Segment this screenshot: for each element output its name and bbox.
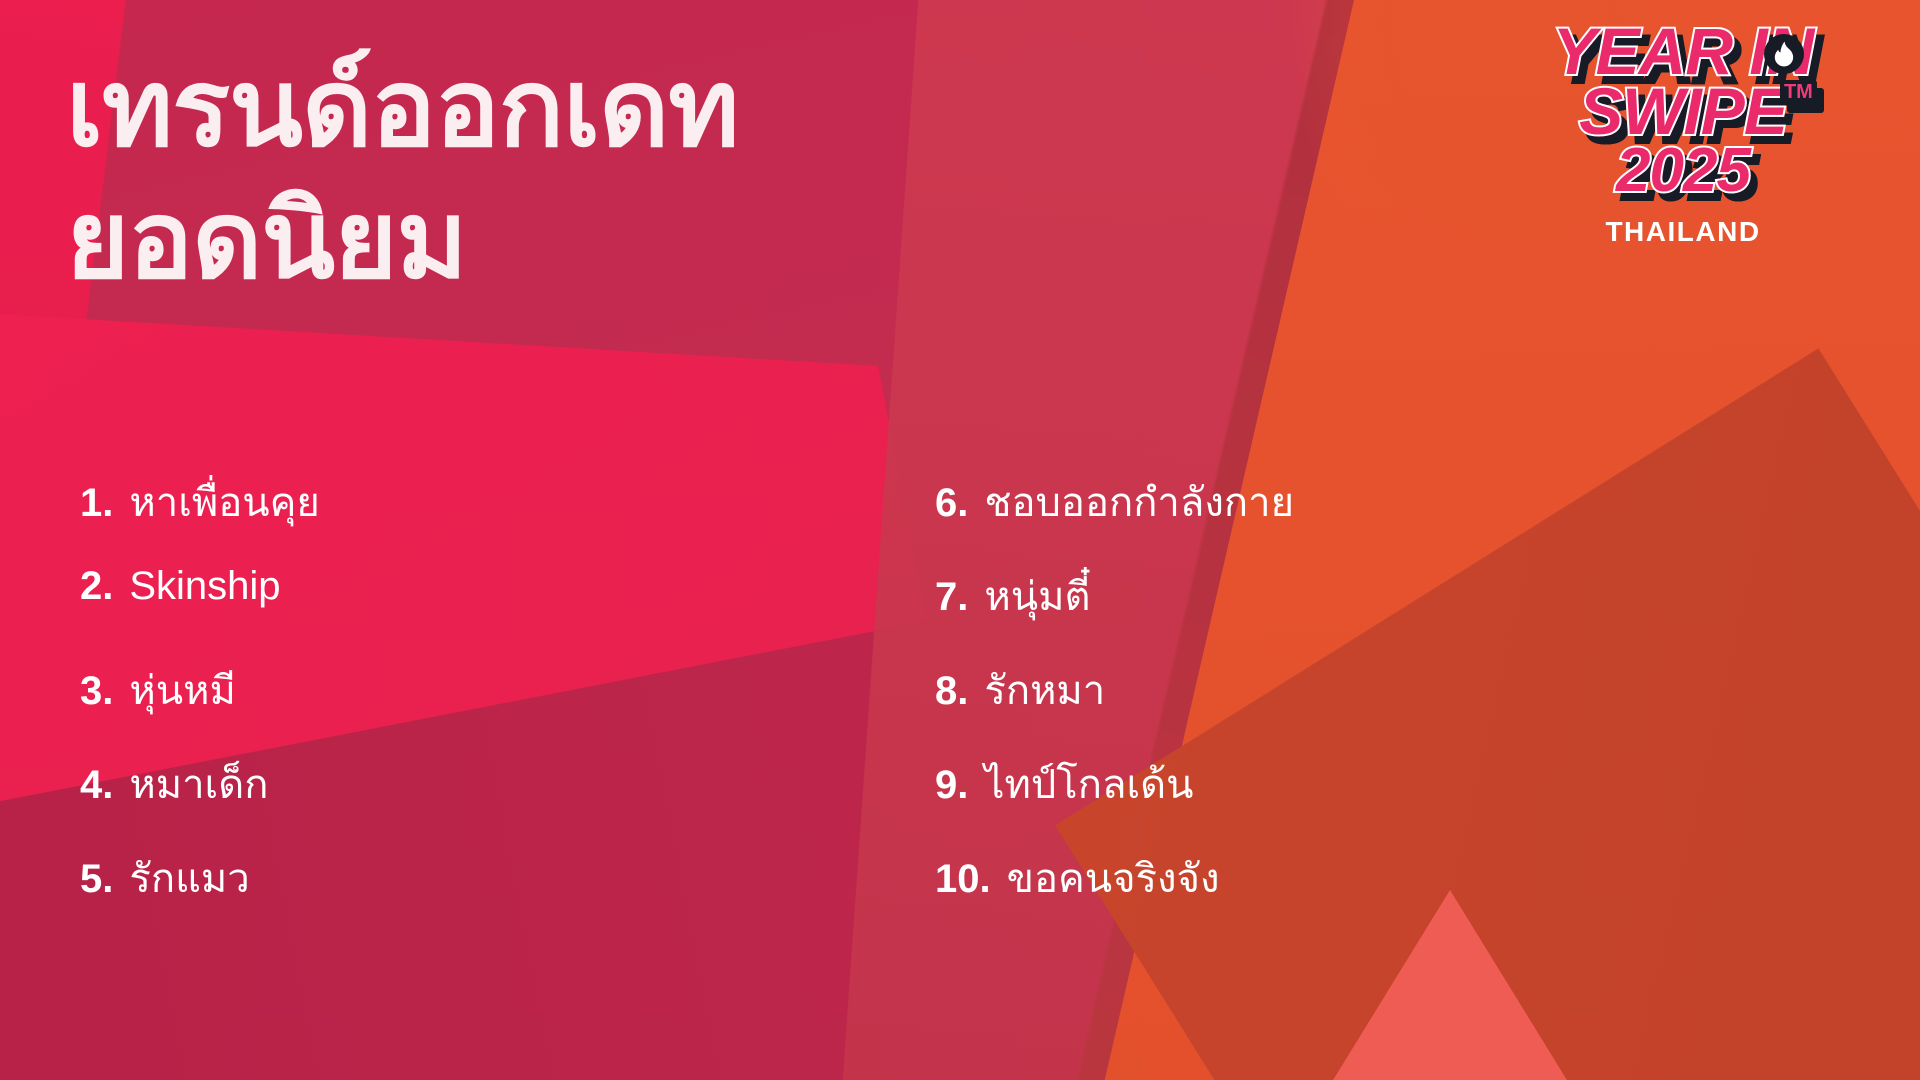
trend-rank: 5. (80, 857, 113, 902)
list-item: 3. หุ่นหมี (80, 658, 840, 752)
trend-label: รักหมา (984, 658, 1105, 722)
logo-line-swipe-row: SWIPE TM (1579, 78, 1787, 144)
trend-rank: 3. (80, 669, 113, 714)
trend-label: Skinship (129, 564, 280, 609)
list-item: 4. หมาเด็ก (80, 752, 840, 846)
trend-list-right: 6. ชอบออกกำลังกาย 7. หนุ่มตี๋ 8. รักหมา … (935, 470, 1835, 940)
trend-label: รักแมว (129, 846, 249, 910)
trend-rank: 1. (80, 481, 113, 526)
page-title: เทรนด์ออกเดท ยอดนิยม (66, 42, 1066, 306)
tinder-flame-icon (1764, 34, 1804, 74)
list-item: 6. ชอบออกกำลังกาย (935, 470, 1835, 564)
page-title-line-2: ยอดนิยม (66, 174, 1066, 306)
trend-rank: 8. (935, 669, 968, 714)
trend-rank: 9. (935, 763, 968, 808)
trademark-mark: TM (1780, 80, 1817, 105)
list-item: 5. รักแมว (80, 846, 840, 940)
trend-label: หาเพื่อนคุย (129, 470, 319, 534)
trend-rank: 10. (935, 857, 991, 902)
poster-canvas: เทรนด์ออกเดท ยอดนิยม 1. หาเพื่อนคุย 2. S… (0, 0, 1920, 1080)
list-item: 9. ไทป์โกลเด้น (935, 752, 1835, 846)
trend-rank: 4. (80, 763, 113, 808)
trend-label: หนุ่มตี๋ (984, 564, 1090, 628)
trend-label: ไทป์โกลเด้น (984, 752, 1193, 816)
trend-rank: 7. (935, 575, 968, 620)
page-title-line-1: เทรนด์ออกเดท (66, 42, 1066, 174)
list-item: 10. ขอคนจริงจัง (935, 846, 1835, 940)
trend-list-left: 1. หาเพื่อนคุย 2. Skinship 3. หุ่นหมี 4.… (80, 470, 840, 940)
list-item: 7. หนุ่มตี๋ (935, 564, 1835, 658)
trend-rank: 6. (935, 481, 968, 526)
trend-label: ขอคนจริงจัง (1007, 846, 1220, 910)
list-item: 8. รักหมา (935, 658, 1835, 752)
year-in-swipe-logo: YEAR IN SWIPE TM 2025 THAILAND (1468, 18, 1898, 248)
list-item: 1. หาเพื่อนคุย (80, 470, 840, 564)
trend-label: หุ่นหมี (129, 658, 235, 722)
trend-rank: 2. (80, 564, 113, 609)
logo-line-year: 2025 (1468, 140, 1898, 202)
trend-label: ชอบออกกำลังกาย (984, 470, 1294, 534)
trend-label: หมาเด็ก (129, 752, 268, 816)
list-item: 2. Skinship (80, 564, 840, 658)
logo-country-label: THAILAND (1468, 216, 1898, 248)
